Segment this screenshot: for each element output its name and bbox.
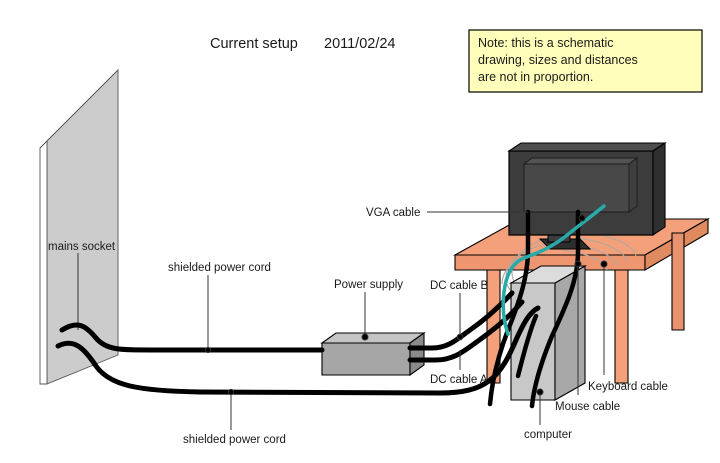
monitor: [509, 143, 665, 249]
monitor-rear-panel: [524, 164, 629, 212]
dot-keyboard-cable: [601, 261, 607, 267]
psu-front-face: [322, 343, 410, 375]
dot-vga-cable: [579, 215, 585, 221]
desk-leg-back-right: [672, 233, 684, 330]
label-computer: computer: [524, 429, 572, 441]
dot-shielded-cord-lower: [228, 389, 233, 394]
label-power-supply: Power supply: [334, 279, 403, 291]
monitor-rear-panel-side: [629, 158, 637, 212]
tower-side-face: [555, 266, 585, 400]
wall-face: [47, 70, 118, 384]
dot-computer: [537, 389, 543, 395]
desk-leg-front-right: [615, 270, 628, 383]
schematic-diagram-canvas: Current setup 2011/02/24 Note: this is a…: [0, 0, 720, 463]
dot-shielded-cord-upper: [205, 347, 210, 352]
dot-power-supply: [362, 334, 368, 340]
power-supply-brick: [322, 333, 424, 375]
label-mouse-cable: Mouse cable: [555, 401, 620, 413]
label-vga-cable: VGA cable: [366, 207, 420, 219]
setup-schematic-drawing: Current setup 2011/02/24 Note: this is a…: [0, 0, 720, 463]
label-keyboard-cable: Keyboard cable: [588, 381, 668, 393]
dot-dc-cable-b: [457, 334, 463, 340]
label-shielded-power-cord-lower: shielded power cord: [183, 434, 286, 446]
label-dc-cable-a: DC cable A: [430, 374, 488, 386]
monitor-top-bevel: [509, 143, 665, 151]
wall-slab: [40, 70, 118, 384]
note-box: Note: this is a schematic drawing, sizes…: [469, 30, 702, 92]
label-mains-socket: mains socket: [48, 241, 116, 253]
diagram-title: Current setup: [210, 36, 298, 52]
psu-top-face: [322, 333, 424, 343]
diagram-date: 2011/02/24: [324, 36, 396, 52]
dot-mouse-cable: [575, 261, 581, 267]
note-line-3: are not in proportion.: [478, 70, 593, 84]
wall-edge-strip: [40, 141, 47, 384]
monitor-rear-panel-top: [524, 158, 637, 164]
label-shielded-power-cord-upper: shielded power cord: [168, 262, 271, 274]
monitor-right-bevel: [653, 143, 665, 235]
label-dc-cable-b: DC cable B: [430, 280, 488, 292]
note-line-1: Note: this is a schematic: [478, 36, 613, 50]
note-line-2: drawing, sizes and distances: [478, 53, 638, 67]
